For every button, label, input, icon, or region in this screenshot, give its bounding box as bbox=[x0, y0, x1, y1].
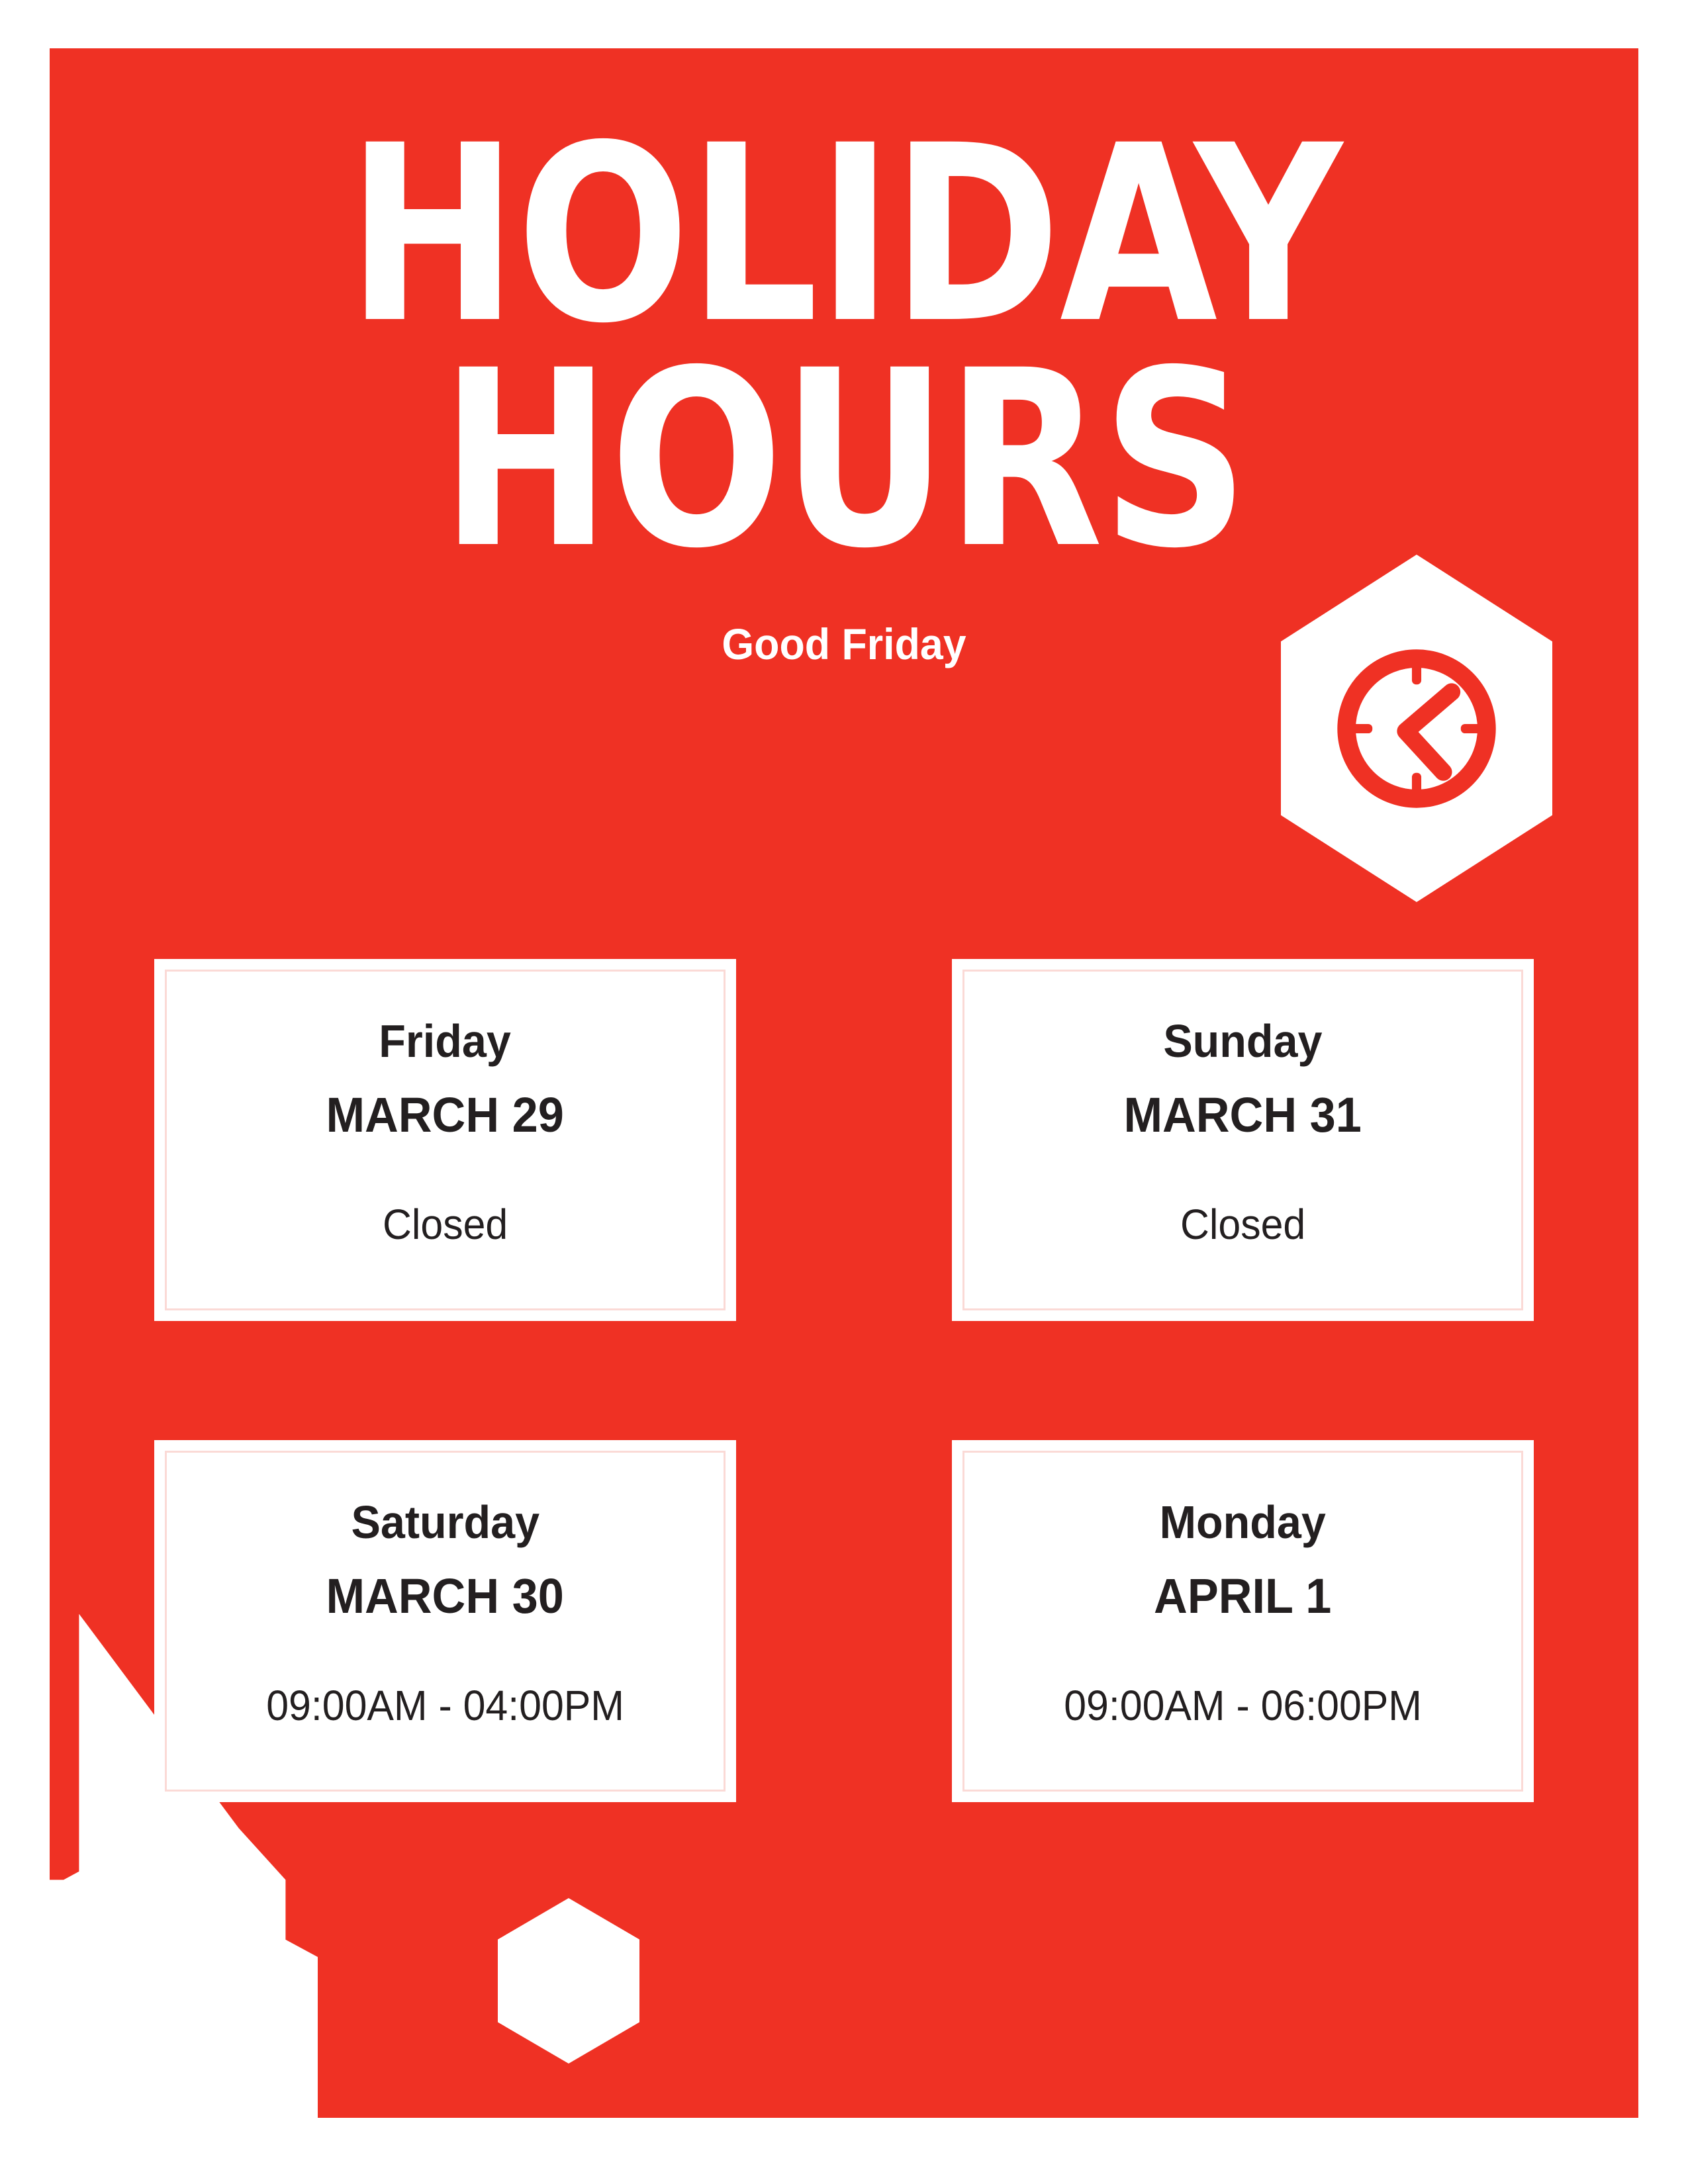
page-title: HOLIDAY HOURS bbox=[50, 119, 1638, 575]
hexagon-icon-large bbox=[0, 1850, 318, 2184]
hours-card: Monday APRIL 1 09:00AM - 06:00PM bbox=[952, 1440, 1534, 1802]
card-day-label: Monday bbox=[1160, 1499, 1326, 1545]
card-hours-value: 09:00AM - 04:00PM bbox=[266, 1684, 624, 1727]
card-date-label: MARCH 31 bbox=[1124, 1091, 1362, 1140]
card-hours-value: 09:00AM - 06:00PM bbox=[1064, 1684, 1422, 1727]
title-line-hours: HOURS bbox=[105, 344, 1583, 576]
card-day-label: Saturday bbox=[351, 1499, 539, 1545]
hours-card: Friday MARCH 29 Closed bbox=[154, 959, 736, 1321]
card-day-label: Sunday bbox=[1163, 1018, 1322, 1064]
card-hours-value: Closed bbox=[383, 1203, 508, 1246]
title-line-holiday: HOLIDAY bbox=[105, 119, 1583, 351]
clock-icon bbox=[1333, 645, 1500, 812]
hours-card: Saturday MARCH 30 09:00AM - 04:00PM bbox=[154, 1440, 736, 1802]
clock-badge bbox=[1281, 555, 1552, 902]
hours-card: Sunday MARCH 31 Closed bbox=[952, 959, 1534, 1321]
card-date-label: MARCH 29 bbox=[326, 1091, 564, 1140]
card-day-label: Friday bbox=[379, 1018, 512, 1064]
hours-card-grid: Friday MARCH 29 Closed Sunday MARCH 31 C… bbox=[154, 959, 1534, 1803]
card-date-label: MARCH 30 bbox=[326, 1572, 564, 1621]
card-hours-value: Closed bbox=[1180, 1203, 1305, 1246]
card-date-label: APRIL 1 bbox=[1154, 1572, 1331, 1621]
holiday-hours-poster: HOLIDAY HOURS Good Friday Friday MARCH 2… bbox=[0, 0, 1688, 2184]
